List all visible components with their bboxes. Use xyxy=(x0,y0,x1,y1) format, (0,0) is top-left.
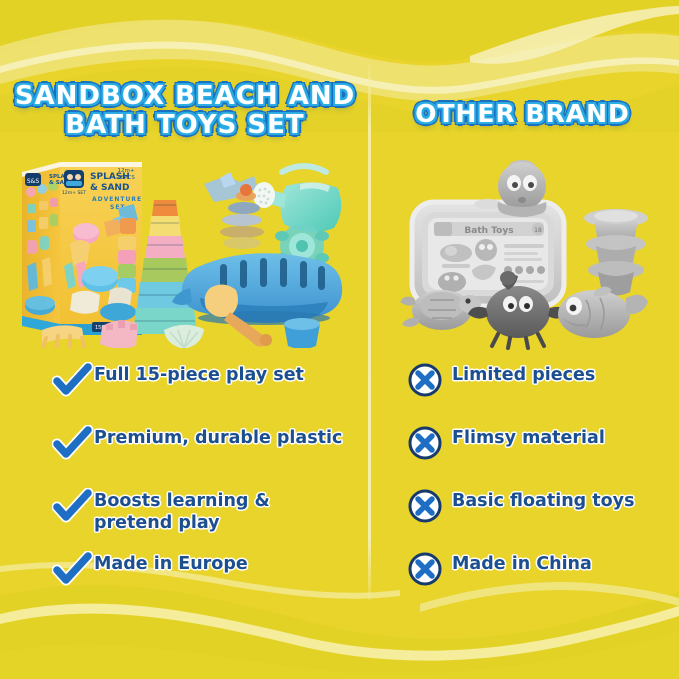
cross-icon xyxy=(408,551,452,587)
list-item: Basic floating toys xyxy=(408,488,670,544)
feature-label: Premium, durable plastic xyxy=(94,425,342,449)
cross-icon xyxy=(408,425,452,461)
left-product-image: S&S SPLASH & SAND 12m+ SET SPLASH & SAND… xyxy=(14,148,354,348)
feature-label: Full 15-piece play set xyxy=(94,362,304,386)
competitor-stacking-cups xyxy=(584,209,648,296)
feature-label: Basic floating toys xyxy=(452,488,635,512)
cross-icon xyxy=(408,488,452,524)
svg-text:12m+: 12m+ xyxy=(118,168,135,174)
list-item: Made in Europe xyxy=(52,551,352,607)
check-icon xyxy=(52,551,94,587)
small-bucket xyxy=(284,318,320,348)
list-item: Flimsy material xyxy=(408,425,670,481)
turtle-bath-toy xyxy=(400,290,481,330)
right-product-image: Bath Toys 18 xyxy=(398,158,666,350)
feature-label: Made in China xyxy=(452,551,592,575)
castle-mold xyxy=(100,320,138,348)
comparison-infographic: Sandbox Beach and Bath Toys Set Other Br… xyxy=(0,0,679,679)
left-column-title: Sandbox Beach and Bath Toys Set xyxy=(10,82,360,140)
product-box: S&S SPLASH & SAND 12m+ SET SPLASH & SAND… xyxy=(22,162,142,335)
list-item: Full 15-piece play set xyxy=(52,362,352,418)
right-column-title: Other Brand xyxy=(375,100,670,128)
watering-can xyxy=(253,166,341,232)
svg-text:18: 18 xyxy=(534,227,542,234)
stacking-cups-tower xyxy=(133,200,197,334)
feature-label: Limited pieces xyxy=(452,362,595,386)
svg-text:12m+ SET: 12m+ SET xyxy=(62,190,86,196)
shell-mold xyxy=(164,325,204,348)
feature-label: Made in Europe xyxy=(94,551,248,575)
svg-text:Bath Toys: Bath Toys xyxy=(464,226,513,236)
sand-rake xyxy=(42,325,85,348)
octopus-bath-toy xyxy=(498,160,547,217)
column-divider xyxy=(368,64,371,601)
list-item: Boosts learning & pretend play xyxy=(52,488,352,544)
cross-icon xyxy=(408,362,452,398)
left-feature-list: Full 15-piece play set Premium, durable … xyxy=(52,362,352,614)
svg-text:15PCS: 15PCS xyxy=(117,175,135,181)
list-item: Limited pieces xyxy=(408,362,670,418)
whale-sand-sifter xyxy=(172,253,342,325)
right-feature-list: Limited pieces Flimsy material Basic flo… xyxy=(408,362,670,614)
svg-text:ADVENTURE: ADVENTURE xyxy=(92,196,142,203)
competitor-package: Bath Toys 18 xyxy=(412,199,564,306)
check-icon xyxy=(52,488,94,524)
svg-text:& SAND: & SAND xyxy=(90,183,129,193)
list-item: Made in China xyxy=(408,551,670,607)
feature-label: Boosts learning & pretend play xyxy=(94,488,352,535)
check-icon xyxy=(52,425,94,461)
feature-label: Flimsy material xyxy=(452,425,605,449)
list-item: Premium, durable plastic xyxy=(52,425,352,481)
svg-text:S&S: S&S xyxy=(27,178,39,185)
check-icon xyxy=(52,362,94,398)
fish-bath-toy xyxy=(558,286,648,338)
